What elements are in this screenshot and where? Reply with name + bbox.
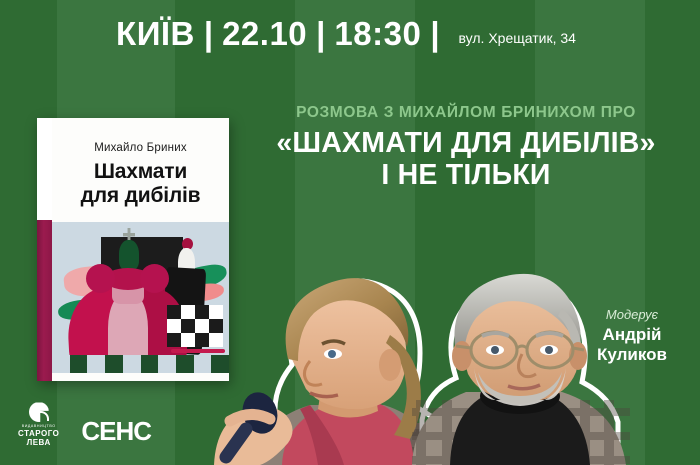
headline-title-line2: І НЕ ТІЛЬКИ (238, 160, 694, 192)
publisher-logo-stary-lev: видавництво СТАРОГО ЛЕВА (18, 402, 59, 447)
moderator-photo-right (412, 250, 630, 465)
pompom-right (140, 264, 169, 293)
publisher-logo-line2: ЛЕВА (18, 439, 59, 447)
event-details-bar: КИЇВ | 22.10 | 18:30 | вул. Хрещатик, 34 (0, 0, 700, 67)
event-address: вул. Хрещатик, 34 (459, 31, 576, 45)
event-city: КИЇВ (116, 17, 195, 50)
book-title-line2: для дибілів (52, 184, 229, 208)
pompom-left (86, 264, 115, 293)
book-spine-top-white (37, 118, 52, 220)
book-cover: Михайло Бриних Шахмати для дибілів (37, 118, 229, 381)
headline-block: РОЗМОВА З МИХАЙЛОМ БРИНИХОМ ПРО «ШАХМАТИ… (238, 104, 700, 192)
separator-3: | (430, 17, 439, 50)
headline-title: «ШАХМАТИ ДЛЯ ДИБІЛІВ» І НЕ ТІЛЬКИ (238, 128, 694, 192)
separator-1: | (204, 17, 213, 50)
event-date: 22.10 (222, 17, 307, 50)
logo-row: видавництво СТАРОГО ЛЕВА СЕНС (18, 402, 151, 447)
headline-title-line1: «ШАХМАТИ ДЛЯ ДИБІЛІВ» (276, 127, 655, 159)
lion-icon (29, 402, 49, 422)
separator-2: | (316, 17, 325, 50)
book-front-face: Михайло Бриних Шахмати для дибілів (52, 118, 229, 381)
chess-king-head (119, 240, 139, 270)
event-details-inner: КИЇВ | 22.10 | 18:30 | вул. Хрещатик, 34 (116, 17, 576, 50)
event-poster: КИЇВ | 22.10 | 18:30 | вул. Хрещатик, 34… (0, 0, 700, 465)
event-time: 18:30 (334, 17, 421, 50)
bg-stripe (645, 0, 700, 465)
headline-kicker: РОЗМОВА З МИХАЙЛОМ БРИНИХОМ ПРО (238, 104, 694, 121)
chess-floor-row (52, 355, 229, 373)
book-author: Михайло Бриних (52, 142, 229, 154)
book-title: Шахмати для дибілів (52, 160, 229, 208)
partner-logo-sens: СЕНС (81, 418, 151, 447)
book-illustration (52, 222, 229, 373)
book-title-line1: Шахмати (94, 160, 187, 183)
